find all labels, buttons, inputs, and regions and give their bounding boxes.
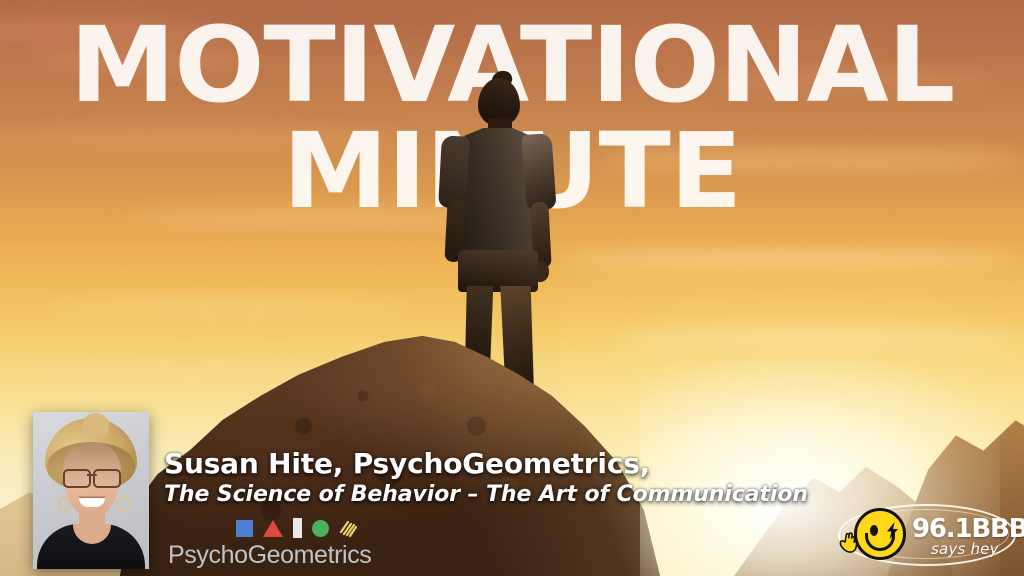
- radio-slogan: says hey: [931, 540, 999, 558]
- figure-left-sleeve: [438, 135, 470, 208]
- portrait-eyeglasses: [63, 469, 121, 484]
- avatar: [33, 412, 149, 569]
- portrait-hair-highlight: [82, 412, 111, 437]
- smiley-face-icon: [854, 508, 906, 560]
- square-icon: [236, 520, 253, 537]
- eyeglass-right-lens: [93, 469, 121, 488]
- portrait-left-earring: [58, 496, 71, 513]
- smiley-mouth: [865, 533, 895, 551]
- circle-icon: [312, 520, 329, 537]
- speaker-name: Susan Hite, PsychoGeometrics,: [164, 447, 650, 480]
- psychogeometrics-logo: PsychoGeometrics: [168, 519, 388, 571]
- psychogeometrics-shape-row: [236, 519, 357, 537]
- psychogeometrics-wordmark: PsychoGeometrics: [168, 541, 371, 570]
- motivational-minute-slide: MOTIVATIONAL MINUTE: [0, 0, 1024, 576]
- figure-hips: [458, 250, 538, 292]
- squiggle-icon: [339, 519, 357, 537]
- eyeglass-left-lens: [63, 469, 91, 488]
- rectangle-icon: [293, 518, 302, 538]
- figure-right-sleeve: [521, 133, 556, 211]
- radio-station-logo: 96.1BBB says hey: [838, 498, 1012, 570]
- speaker-tagline: The Science of Behavior – The Art of Com…: [164, 482, 808, 507]
- portrait-right-earring: [117, 496, 130, 513]
- triangle-icon: [263, 520, 283, 537]
